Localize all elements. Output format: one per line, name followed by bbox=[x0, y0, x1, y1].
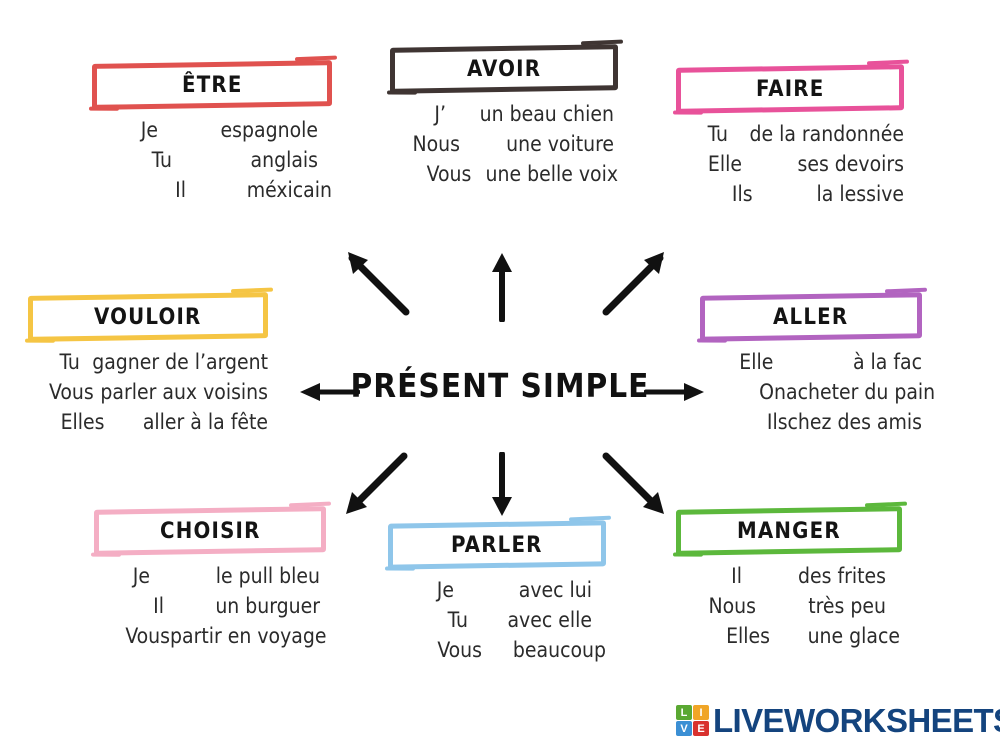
verb-row: Ils chez des amis bbox=[700, 412, 922, 433]
verb-title-faire: FAIRE bbox=[756, 77, 824, 102]
complement: une voiture bbox=[460, 134, 614, 155]
worksheet-canvas: ÊTRE Je espagnole Tu anglais Il méxicain… bbox=[0, 0, 1000, 750]
arrow-up-right-to-faire bbox=[600, 248, 672, 318]
verb-box-choisir: CHOISIR bbox=[94, 506, 326, 556]
verb-row: Ils la lessive bbox=[676, 184, 904, 205]
verb-group-manger: MANGER Il des frites Nous très peu Elles… bbox=[676, 508, 902, 656]
pronoun: J’ bbox=[390, 104, 446, 125]
complement: partir en voyage bbox=[170, 626, 326, 647]
liveworksheets-wordmark: LIVEWORKSHEETS bbox=[713, 704, 1000, 737]
complement: avec elle bbox=[468, 610, 592, 631]
pronoun: Tu bbox=[402, 610, 468, 631]
pronoun: Il bbox=[108, 596, 164, 617]
complement: de la randonnée bbox=[728, 124, 904, 145]
verb-rows-etre: Je espagnole Tu anglais Il méxicain bbox=[92, 120, 332, 201]
arrow-right-to-aller bbox=[644, 378, 706, 406]
verb-row: Il des frites bbox=[676, 566, 902, 587]
complement: acheter du pain bbox=[786, 382, 922, 403]
verb-rows-parler: Je avec lui Tu avec elle Vous beaucoup bbox=[388, 580, 606, 661]
verb-title-vouloir: VOULOIR bbox=[94, 305, 201, 330]
verb-row: Vous partir en voyage bbox=[94, 626, 326, 647]
complement: une glace bbox=[770, 626, 900, 647]
complement: avec lui bbox=[454, 580, 592, 601]
complement: beaucoup bbox=[482, 640, 606, 661]
verb-group-aller: ALLER Elle à la fac On acheter du pain I… bbox=[700, 294, 922, 442]
arrow-up-to-avoir bbox=[487, 250, 517, 322]
pronoun: Vous bbox=[122, 626, 170, 647]
pronoun: Elles bbox=[56, 412, 105, 433]
pronoun: Nous bbox=[404, 134, 460, 155]
pronoun: Je bbox=[92, 120, 158, 141]
pronoun: Tu bbox=[28, 352, 80, 373]
verb-title-etre: ÊTRE bbox=[182, 73, 243, 98]
verb-row: Vous parler aux voisins bbox=[28, 382, 268, 403]
complement: méxicain bbox=[186, 180, 332, 201]
complement: anglais bbox=[172, 150, 318, 171]
pronoun: Je bbox=[94, 566, 150, 587]
pronoun: Elle bbox=[700, 352, 773, 373]
verb-box-vouloir: VOULOIR bbox=[28, 292, 268, 342]
page-title: PRÉSENT SIMPLE bbox=[351, 366, 650, 405]
complement: la lessive bbox=[753, 184, 904, 205]
verb-box-etre: ÊTRE bbox=[92, 60, 332, 110]
verb-title-choisir: CHOISIR bbox=[160, 519, 261, 544]
verb-row: Elles aller à la fête bbox=[28, 412, 268, 433]
pronoun: Vous bbox=[42, 382, 94, 403]
pronoun: Il bbox=[120, 180, 186, 201]
verb-rows-manger: Il des frites Nous très peu Elles une gl… bbox=[676, 566, 902, 647]
verb-group-faire: FAIRE Tu de la randonnée Elle ses devoir… bbox=[676, 66, 904, 214]
verb-row: Tu gagner de l’argent bbox=[28, 352, 268, 373]
complement: un beau chien bbox=[446, 104, 614, 125]
verb-row: Vous beaucoup bbox=[388, 640, 606, 661]
pronoun: Elles bbox=[704, 626, 770, 647]
verb-box-avoir: AVOIR bbox=[390, 44, 618, 94]
verb-row: Il un burguer bbox=[94, 596, 326, 617]
verb-row: Je le pull bleu bbox=[94, 566, 326, 587]
complement: à la fac bbox=[773, 352, 922, 373]
verb-row: Je espagnole bbox=[92, 120, 332, 141]
complement: ses devoirs bbox=[742, 154, 904, 175]
verb-row: Il méxicain bbox=[92, 180, 332, 201]
pronoun: Ils bbox=[728, 412, 788, 433]
complement: espagnole bbox=[158, 120, 318, 141]
complement: le pull bleu bbox=[150, 566, 320, 587]
pronoun: Il bbox=[676, 566, 742, 587]
verb-row: Vous une belle voix bbox=[390, 164, 618, 185]
pronoun: Nous bbox=[690, 596, 756, 617]
verb-row: Tu avec elle bbox=[388, 610, 606, 631]
verb-rows-avoir: J’ un beau chien Nous une voiture Vous u… bbox=[390, 104, 618, 185]
verb-row: On acheter du pain bbox=[700, 382, 922, 403]
complement: gagner de l’argent bbox=[80, 352, 268, 373]
pronoun: Vous bbox=[416, 640, 482, 661]
pronoun: Ils bbox=[704, 184, 753, 205]
pronoun: Tu bbox=[676, 124, 728, 145]
logo-tile-l: L bbox=[676, 705, 692, 720]
verb-row: Nous une voiture bbox=[390, 134, 618, 155]
verb-box-parler: PARLER bbox=[388, 520, 606, 569]
complement: très peu bbox=[756, 596, 886, 617]
verb-group-etre: ÊTRE Je espagnole Tu anglais Il méxicain bbox=[92, 62, 332, 210]
verb-group-parler: PARLER Je avec lui Tu avec elle Vous bea… bbox=[388, 522, 606, 670]
verb-box-aller: ALLER bbox=[700, 292, 922, 341]
verb-title-manger: MANGER bbox=[737, 519, 841, 544]
complement: parler aux voisins bbox=[94, 382, 268, 403]
pronoun: Tu bbox=[106, 150, 172, 171]
complement: des frites bbox=[742, 566, 886, 587]
pronoun: Vous bbox=[418, 164, 471, 185]
verb-title-parler: PARLER bbox=[451, 533, 543, 558]
verb-row: Elle à la fac bbox=[700, 352, 922, 373]
arrow-down-right-to-manger bbox=[600, 452, 672, 520]
arrow-down-left-to-choisir bbox=[340, 452, 412, 520]
verb-rows-choisir: Je le pull bleu Il un burguer Vous parti… bbox=[94, 566, 326, 647]
verb-row: Elles une glace bbox=[676, 626, 902, 647]
liveworksheets-logo: L I V E LIVEWORKSHEETS bbox=[676, 704, 1000, 737]
verb-title-aller: ALLER bbox=[773, 305, 848, 330]
verb-title-avoir: AVOIR bbox=[467, 57, 541, 82]
center-node: PRÉSENT SIMPLE bbox=[332, 366, 668, 405]
complement: chez des amis bbox=[788, 412, 922, 433]
complement: aller à la fête bbox=[105, 412, 268, 433]
arrow-up-left-to-etre bbox=[340, 248, 412, 318]
verb-row: Nous très peu bbox=[676, 596, 902, 617]
verb-group-vouloir: VOULOIR Tu gagner de l’argent Vous parle… bbox=[28, 294, 268, 442]
verb-box-manger: MANGER bbox=[676, 506, 902, 556]
pronoun: Je bbox=[388, 580, 454, 601]
arrow-left-to-vouloir bbox=[298, 378, 360, 406]
logo-tile-i: I bbox=[693, 705, 709, 720]
verb-row: Je avec lui bbox=[388, 580, 606, 601]
verb-row: J’ un beau chien bbox=[390, 104, 618, 125]
liveworksheets-logo-mark: L I V E bbox=[676, 705, 709, 736]
logo-tile-e: E bbox=[693, 721, 709, 736]
verb-rows-vouloir: Tu gagner de l’argent Vous parler aux vo… bbox=[28, 352, 268, 433]
arrow-down-to-parler bbox=[487, 452, 517, 520]
verb-rows-faire: Tu de la randonnée Elle ses devoirs Ils … bbox=[676, 124, 904, 205]
pronoun: Elle bbox=[690, 154, 742, 175]
complement: un burguer bbox=[164, 596, 320, 617]
complement: une belle voix bbox=[471, 164, 618, 185]
logo-tile-v: V bbox=[676, 721, 692, 736]
verb-group-choisir: CHOISIR Je le pull bleu Il un burguer Vo… bbox=[94, 508, 326, 656]
verb-box-faire: FAIRE bbox=[676, 64, 904, 114]
verb-row: Tu anglais bbox=[92, 150, 332, 171]
pronoun: On bbox=[714, 382, 786, 403]
verb-rows-aller: Elle à la fac On acheter du pain Ils che… bbox=[700, 352, 922, 433]
verb-row: Elle ses devoirs bbox=[676, 154, 904, 175]
verb-group-avoir: AVOIR J’ un beau chien Nous une voiture … bbox=[390, 46, 618, 194]
verb-row: Tu de la randonnée bbox=[676, 124, 904, 145]
